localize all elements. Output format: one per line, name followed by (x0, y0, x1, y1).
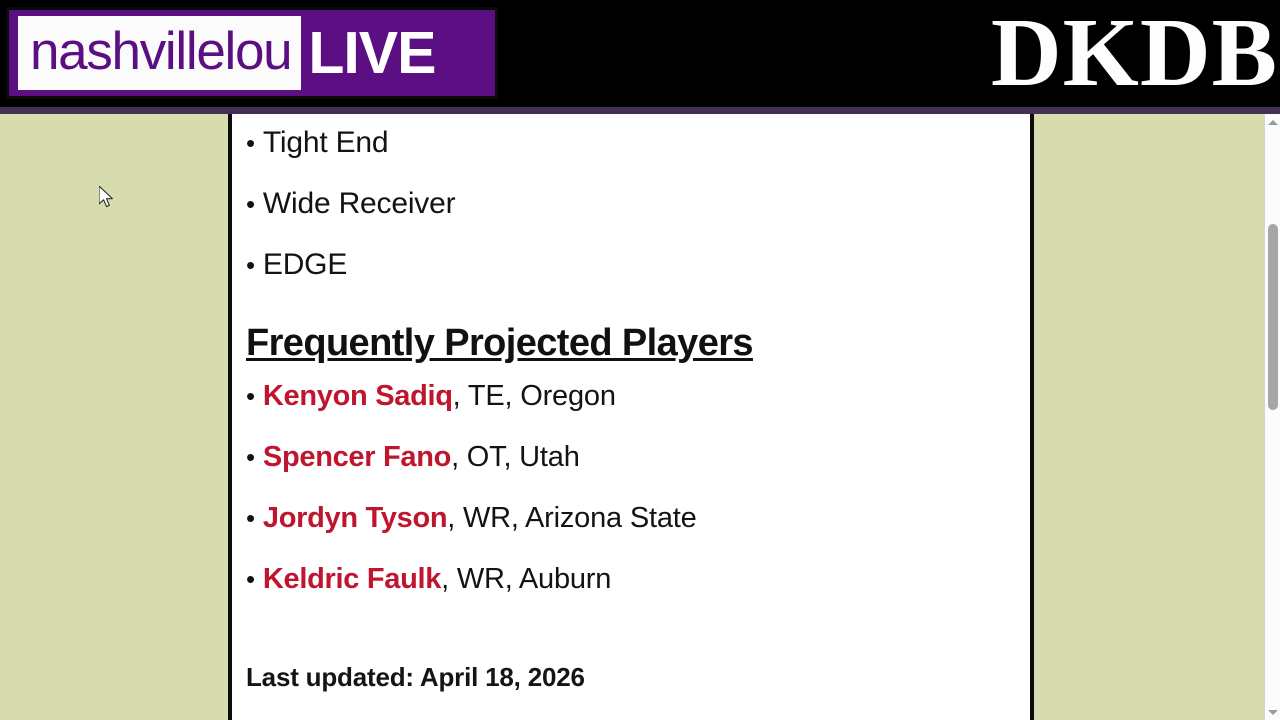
brand-name-text: nashvillelou (30, 25, 291, 78)
document-content: • Tight End • Wide Receiver • EDGE Frequ… (232, 114, 1030, 693)
list-item: • EDGE (246, 250, 1030, 311)
projected-players-list: • Kenyon Sadiq, TE, Oregon • Spencer Fan… (246, 382, 1030, 626)
bullet-icon: • (246, 191, 255, 217)
player-meta: , WR, Arizona State (447, 504, 696, 533)
broadcast-top-banner: nashvillelou LIVE DKDB (0, 0, 1280, 107)
dkdb-wordmark-text: DKDB (991, 4, 1278, 102)
brand-name-plate: nashvillelou (18, 16, 301, 90)
player-name: Jordyn Tyson (263, 504, 447, 533)
player-meta: , OT, Utah (451, 443, 580, 472)
nashvillelou-live-logo: nashvillelou LIVE (6, 7, 498, 99)
player-name: Kenyon Sadiq (263, 382, 453, 411)
page-title: Frequently Projected Players (246, 324, 753, 364)
vertical-scrollbar[interactable] (1264, 114, 1280, 720)
player-name: Keldric Faulk (263, 565, 441, 594)
list-item: • Jordyn Tyson, WR, Arizona State (246, 504, 1030, 565)
dkdb-network-logo: DKDB (991, 1, 1278, 105)
bullet-icon: • (246, 505, 255, 531)
scroll-down-arrow-icon[interactable] (1265, 704, 1280, 720)
player-meta: , TE, Oregon (453, 382, 616, 411)
bullet-icon: • (246, 383, 255, 409)
position-bullet-list: • Tight End • Wide Receiver • EDGE (246, 128, 1030, 311)
section-heading-wrapper: Frequently Projected Players (246, 311, 1030, 364)
last-updated-note: Last updated: April 18, 2026 (246, 662, 1030, 693)
document-paper-column: • Tight End • Wide Receiver • EDGE Frequ… (232, 114, 1030, 720)
bullet-icon: • (246, 252, 255, 278)
list-item: • Keldric Faulk, WR, Auburn (246, 565, 1030, 626)
position-label: Wide Receiver (263, 189, 455, 219)
browser-page-area: • Tight End • Wide Receiver • EDGE Frequ… (0, 114, 1280, 720)
banner-accent-strip (0, 107, 1280, 114)
chevron-down-icon (1268, 710, 1278, 715)
list-item: • Spencer Fano, OT, Utah (246, 443, 1030, 504)
list-item: • Tight End (246, 128, 1030, 189)
scrollbar-thumb[interactable] (1268, 224, 1278, 410)
scroll-up-arrow-icon[interactable] (1265, 114, 1280, 130)
bullet-icon: • (246, 444, 255, 470)
list-item: • Kenyon Sadiq, TE, Oregon (246, 382, 1030, 443)
position-label: Tight End (263, 128, 389, 158)
brand-live-text: LIVE (308, 24, 435, 83)
document-right-border (1030, 114, 1034, 720)
bullet-icon: • (246, 566, 255, 592)
position-label: EDGE (263, 250, 347, 280)
player-meta: , WR, Auburn (441, 565, 611, 594)
chevron-up-icon (1268, 120, 1278, 125)
bullet-icon: • (246, 130, 255, 156)
list-item: • Wide Receiver (246, 189, 1030, 250)
player-name: Spencer Fano (263, 443, 451, 472)
